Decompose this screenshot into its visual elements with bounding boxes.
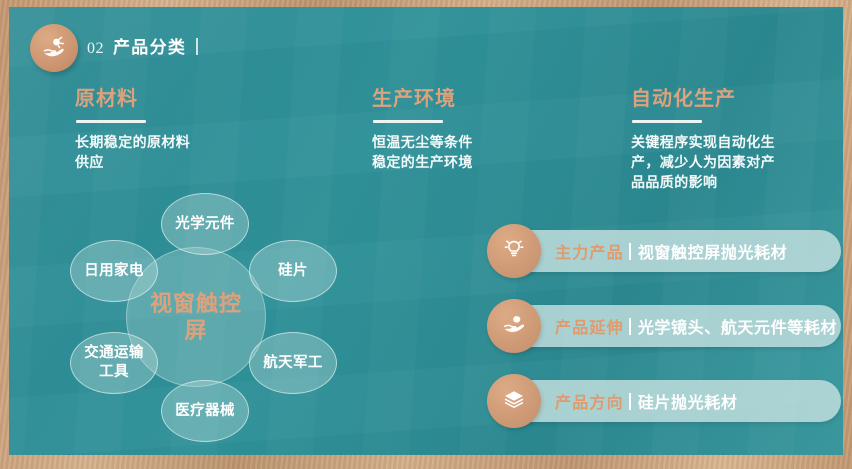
feature-body: 长期稳定的原材料 供应 [75, 132, 190, 172]
petal-aerospace-military[interactable]: 航天军工 [249, 332, 337, 394]
slide-root: 02 产品分类 原材料 长期稳定的原材料 供应 生产环境 恒温无尘等条件 稳定的… [0, 0, 852, 469]
feature-column-raw-material: 原材料 长期稳定的原材料 供应 [75, 87, 190, 172]
pill-text: 产品方向 硅片抛光耗材 [555, 380, 737, 422]
feature-body: 关键程序实现自动化生 产，减少人为因素对产 品品质的影响 [631, 132, 775, 192]
header-badge [30, 24, 78, 72]
feature-rule [76, 120, 146, 123]
header-number: 02 [87, 40, 104, 58]
feature-title: 原材料 [75, 87, 190, 111]
feature-body: 恒温无尘等条件 稳定的生产环境 [372, 132, 473, 172]
pill-icon-circle [487, 224, 541, 278]
pill-separator [629, 318, 631, 335]
petal-label: 航天军工 [257, 354, 329, 373]
petal-silicon-wafer[interactable]: 硅片 [249, 240, 337, 302]
slide-panel: 02 产品分类 原材料 长期稳定的原材料 供应 生产环境 恒温无尘等条件 稳定的… [9, 7, 843, 455]
pill-separator [629, 393, 631, 410]
hand-holding-leaf-icon [501, 311, 527, 342]
hand-holding-bulb-icon [40, 34, 68, 62]
pill-text: 产品延伸 光学镜头、航天元件等耗材 [555, 305, 837, 347]
feature-rule [373, 120, 443, 123]
pill-tag: 主力产品 [555, 239, 624, 263]
petal-label: 医疗器械 [169, 402, 241, 421]
pill-icon-circle [487, 299, 541, 353]
petal-label: 光学元件 [169, 215, 241, 234]
page-title: 产品分类 [113, 33, 186, 58]
feature-column-automated-production: 自动化生产 关键程序实现自动化生 产，减少人为因素对产 品品质的影响 [631, 87, 775, 192]
pill-description: 视窗触控屏抛光耗材 [638, 239, 787, 263]
petal-label: 硅片 [272, 262, 314, 281]
petal-label: 交通运输 工具 [71, 344, 157, 382]
petal-optical-components[interactable]: 光学元件 [161, 193, 249, 255]
petal-medical-devices[interactable]: 医疗器械 [161, 380, 249, 442]
pill-separator [629, 243, 631, 260]
pill-tag: 产品延伸 [555, 314, 624, 338]
feature-rule [632, 120, 702, 123]
petal-transportation-tools[interactable]: 交通运输 工具 [70, 332, 158, 394]
pill-product-extension[interactable]: 产品延伸 光学镜头、航天元件等耗材 [491, 305, 841, 347]
feature-column-production-environment: 生产环境 恒温无尘等条件 稳定的生产环境 [372, 87, 473, 172]
header-title: 02 产品分类 [87, 33, 198, 58]
feature-title: 自动化生产 [631, 87, 775, 111]
petal-center-label: 视窗触控屏 [150, 290, 242, 344]
pill-text: 主力产品 视窗触控屏抛光耗材 [555, 230, 787, 272]
feature-title: 生产环境 [372, 87, 473, 111]
pill-icon-circle [487, 374, 541, 428]
lightbulb-icon [502, 237, 526, 266]
pill-tag: 产品方向 [555, 389, 624, 413]
petal-home-appliances[interactable]: 日用家电 [70, 240, 158, 302]
petal-label: 日用家电 [78, 262, 150, 281]
title-caret [196, 38, 198, 55]
pill-product-direction[interactable]: 产品方向 硅片抛光耗材 [491, 380, 841, 422]
pill-main-product[interactable]: 主力产品 视窗触控屏抛光耗材 [491, 230, 841, 272]
layers-icon [502, 387, 526, 416]
pill-description: 硅片抛光耗材 [638, 389, 738, 413]
petal-diagram: 视窗触控屏 光学元件 硅片 航天军工 医疗器械 交通运输 工具 日用家电 [64, 192, 359, 442]
pill-description: 光学镜头、航天元件等耗材 [638, 314, 837, 338]
